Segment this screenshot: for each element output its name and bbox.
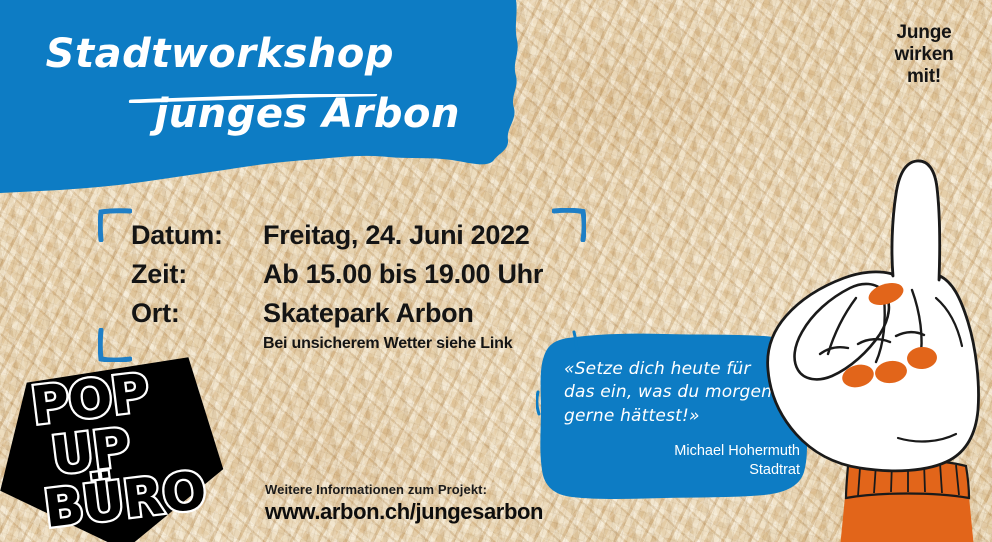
orange-sleeve xyxy=(840,460,974,542)
quote-text: «Setze dich heute für das ein, was du mo… xyxy=(564,358,774,428)
detail-value-location: Skatepark Arbon xyxy=(263,298,474,329)
bracket-top-left xyxy=(98,208,132,242)
info-url[interactable]: www.arbon.ch/jungesarbon xyxy=(265,499,543,525)
pointing-hand-illustration xyxy=(760,148,992,542)
detail-row-time: Zeit: Ab 15.00 bis 19.00 Uhr xyxy=(131,259,551,290)
detail-label-date: Datum: xyxy=(131,220,263,251)
tagline-line-3: mit! xyxy=(874,66,974,88)
blue-header-shape xyxy=(0,0,560,215)
tagline-junge-wirken-mit: Junge wirken mit! xyxy=(874,22,974,88)
detail-value-date: Freitag, 24. Juni 2022 xyxy=(263,220,530,251)
detail-label-time: Zeit: xyxy=(131,259,263,290)
event-details: Datum: Freitag, 24. Juni 2022 Zeit: Ab 1… xyxy=(131,220,551,353)
detail-label-location: Ort: xyxy=(131,298,263,329)
detail-row-date: Datum: Freitag, 24. Juni 2022 xyxy=(131,220,551,251)
detail-row-location: Ort: Skatepark Arbon xyxy=(131,298,551,329)
bracket-top-right xyxy=(552,208,586,242)
detail-value-time: Ab 15.00 bis 19.00 Uhr xyxy=(263,259,543,290)
detail-weather-note: Bei unsicherem Wetter siehe Link xyxy=(263,335,551,353)
project-info: Weitere Informationen zum Projekt: www.a… xyxy=(265,482,543,525)
title-underline xyxy=(88,94,418,103)
popup-buero-logo: POP UP BÜRO xyxy=(0,355,240,542)
tagline-line-1: Junge xyxy=(874,22,974,44)
info-label: Weitere Informationen zum Projekt: xyxy=(265,482,543,497)
poster-root: Stadtworkshop junges Arbon Datum: Freita… xyxy=(0,0,992,542)
tagline-line-2: wirken xyxy=(874,44,974,66)
